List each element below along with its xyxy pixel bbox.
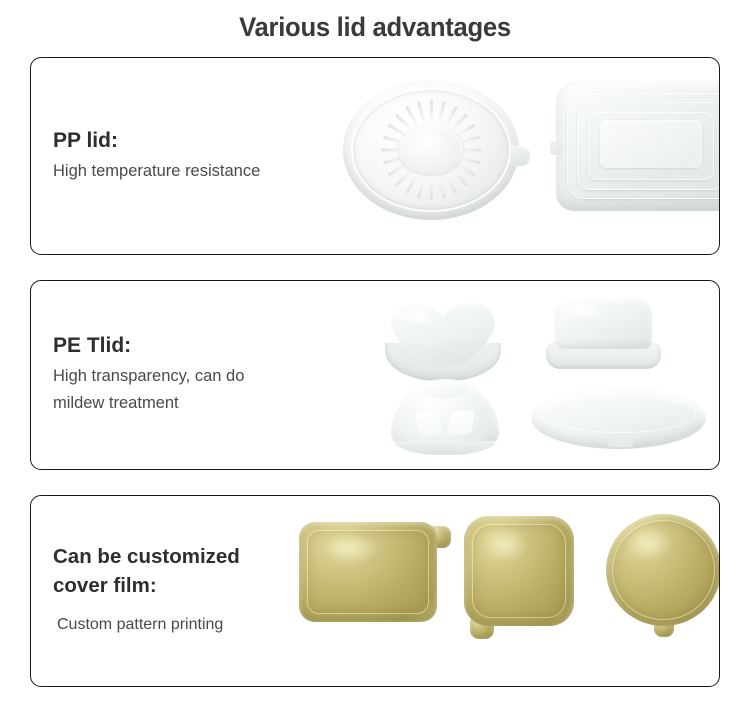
card-cover-film-text: Can be customized cover film: Custom pat… bbox=[31, 545, 261, 638]
card-cover-film-description: Custom pattern printing bbox=[53, 603, 261, 638]
card-pe-t-lid-text: PE Tlid: High transparency, can do milde… bbox=[31, 333, 331, 417]
square-foil-lip bbox=[472, 524, 567, 619]
square-dome-lid-image bbox=[546, 297, 661, 369]
card-pe-t-lid: PE Tlid: High transparency, can do milde… bbox=[30, 280, 720, 470]
card-cover-film: Can be customized cover film: Custom pat… bbox=[30, 495, 720, 687]
card-pe-t-lid-heading: PE Tlid: bbox=[53, 333, 331, 358]
card-pp-lid-heading: PP lid: bbox=[53, 128, 311, 153]
dome-lid-segment-left bbox=[415, 411, 443, 435]
heart-shaped-dome-lid-image bbox=[383, 299, 503, 381]
card-pp-lid: PP lid: High temperature resistance bbox=[30, 57, 720, 255]
card-pe-t-lid-description-line1: High transparency, can do bbox=[53, 363, 331, 390]
card-cover-film-heading-line1: Can be customized bbox=[53, 545, 261, 569]
heart-lid-highlight bbox=[400, 306, 436, 327]
rectangular-foil-lip bbox=[307, 530, 428, 614]
card-pp-lid-images bbox=[281, 58, 719, 254]
oval-lid-inner-ring bbox=[542, 394, 696, 432]
card-cover-film-heading-line2: cover film: bbox=[53, 574, 261, 598]
card-pe-t-lid-description-line2: mildew treatment bbox=[53, 390, 331, 417]
round-pp-lid-tab bbox=[510, 146, 530, 166]
page-title: Various lid advantages bbox=[19, 0, 732, 44]
rectangular-pp-lid-tab bbox=[550, 141, 562, 155]
rectangular-pp-lid-panel bbox=[600, 120, 703, 168]
round-pp-lid-image bbox=[343, 80, 519, 220]
rectangular-pp-lid-image bbox=[556, 81, 720, 211]
round-pp-lid-center bbox=[399, 126, 462, 174]
card-cover-film-images bbox=[281, 496, 719, 686]
round-foil-lip bbox=[612, 520, 716, 621]
oval-lid-notch bbox=[608, 437, 633, 447]
card-pe-t-lid-images bbox=[281, 281, 719, 469]
dome-lid-ring bbox=[394, 441, 496, 455]
rectangular-gold-foil-lid-image bbox=[299, 522, 437, 622]
card-pp-lid-description: High temperature resistance bbox=[53, 158, 311, 185]
square-gold-foil-lid-image bbox=[464, 516, 574, 626]
dome-lid-flat-top bbox=[420, 382, 470, 400]
card-pp-lid-text: PP lid: High temperature resistance bbox=[31, 128, 311, 185]
oval-flat-lid-image bbox=[531, 387, 706, 449]
round-gold-foil-lid-image bbox=[606, 514, 720, 626]
round-dome-cup-lid-image bbox=[391, 379, 499, 455]
cards-container: PP lid: High temperature resistance bbox=[30, 57, 720, 687]
dome-lid-segment-right bbox=[447, 411, 475, 435]
